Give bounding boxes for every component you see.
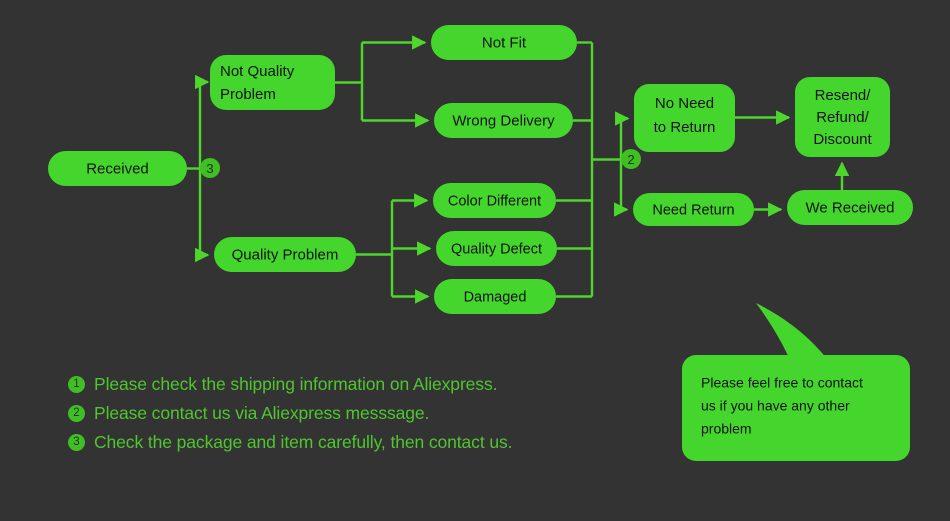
legend-label-2: Please contact us via Aliexpress messsag… (94, 403, 429, 424)
node-damaged[interactable]: Damaged (434, 279, 556, 314)
legend-badge-2: 2 (68, 405, 85, 422)
node-resend-refund-discount-label-line3: Discount (813, 131, 872, 148)
node-need-return[interactable]: Need Return (633, 193, 754, 226)
node-no-need-to-return-label-line2: to Return (654, 119, 716, 136)
legend-item: 3 Check the package and item carefully, … (68, 428, 668, 457)
node-need-return-label: Need Return (652, 202, 734, 218)
node-received[interactable]: Received (48, 151, 187, 186)
step-badge-3-label: 3 (206, 161, 213, 176)
node-received-label: Received (86, 160, 149, 177)
node-not-fit-label: Not Fit (482, 34, 527, 51)
node-not-quality-problem-label-line2: Problem (220, 86, 276, 103)
legend-item: 1 Please check the shipping information … (68, 370, 668, 399)
legend-notes: 1 Please check the shipping information … (68, 370, 668, 457)
node-not-quality-problem-label-line1: Not Quality (220, 63, 295, 80)
diagram-canvas: Received Not Quality Problem Quality Pro… (0, 0, 950, 521)
step-badge-2: 2 (621, 149, 641, 169)
node-we-received[interactable]: We Received (787, 190, 913, 225)
legend-item: 2 Please contact us via Aliexpress messs… (68, 399, 668, 428)
node-not-fit[interactable]: Not Fit (431, 25, 577, 60)
node-we-received-label: We Received (806, 199, 895, 216)
node-no-need-to-return-label-line1: No Need (655, 95, 714, 112)
step-badge-2-label: 2 (627, 152, 634, 167)
step-badge-3: 3 (200, 158, 220, 178)
speech-bubble[interactable]: Please feel free to contact us if you ha… (682, 303, 910, 461)
legend-label-3: Check the package and item carefully, th… (94, 432, 512, 453)
speech-bubble-tail (756, 303, 828, 360)
legend-badge-3: 3 (68, 434, 85, 451)
legend-label-1: Please check the shipping information on… (94, 374, 497, 395)
node-color-different-label: Color Different (448, 193, 541, 209)
node-color-different[interactable]: Color Different (433, 183, 556, 218)
node-not-quality-problem[interactable]: Not Quality Problem (210, 55, 335, 110)
node-resend-refund-discount-label-line2: Refund/ (816, 109, 869, 126)
node-quality-defect[interactable]: Quality Defect (436, 231, 557, 266)
node-wrong-delivery[interactable]: Wrong Delivery (434, 103, 573, 138)
node-quality-defect-label: Quality Defect (451, 241, 542, 257)
node-resend-refund-discount-label-line1: Resend/ (815, 87, 872, 104)
node-resend-refund-discount[interactable]: Resend/ Refund/ Discount (795, 77, 890, 157)
speech-bubble-line1: Please feel free to contact (701, 375, 863, 391)
node-no-need-to-return[interactable]: No Need to Return (634, 84, 735, 152)
node-quality-problem[interactable]: Quality Problem (214, 237, 356, 272)
speech-bubble-line2: us if you have any other (701, 398, 850, 414)
node-damaged-label: Damaged (464, 289, 527, 305)
speech-bubble-line3: problem (701, 421, 752, 437)
node-quality-problem-label: Quality Problem (232, 246, 339, 263)
legend-badge-1: 1 (68, 376, 85, 393)
node-wrong-delivery-label: Wrong Delivery (452, 112, 555, 129)
